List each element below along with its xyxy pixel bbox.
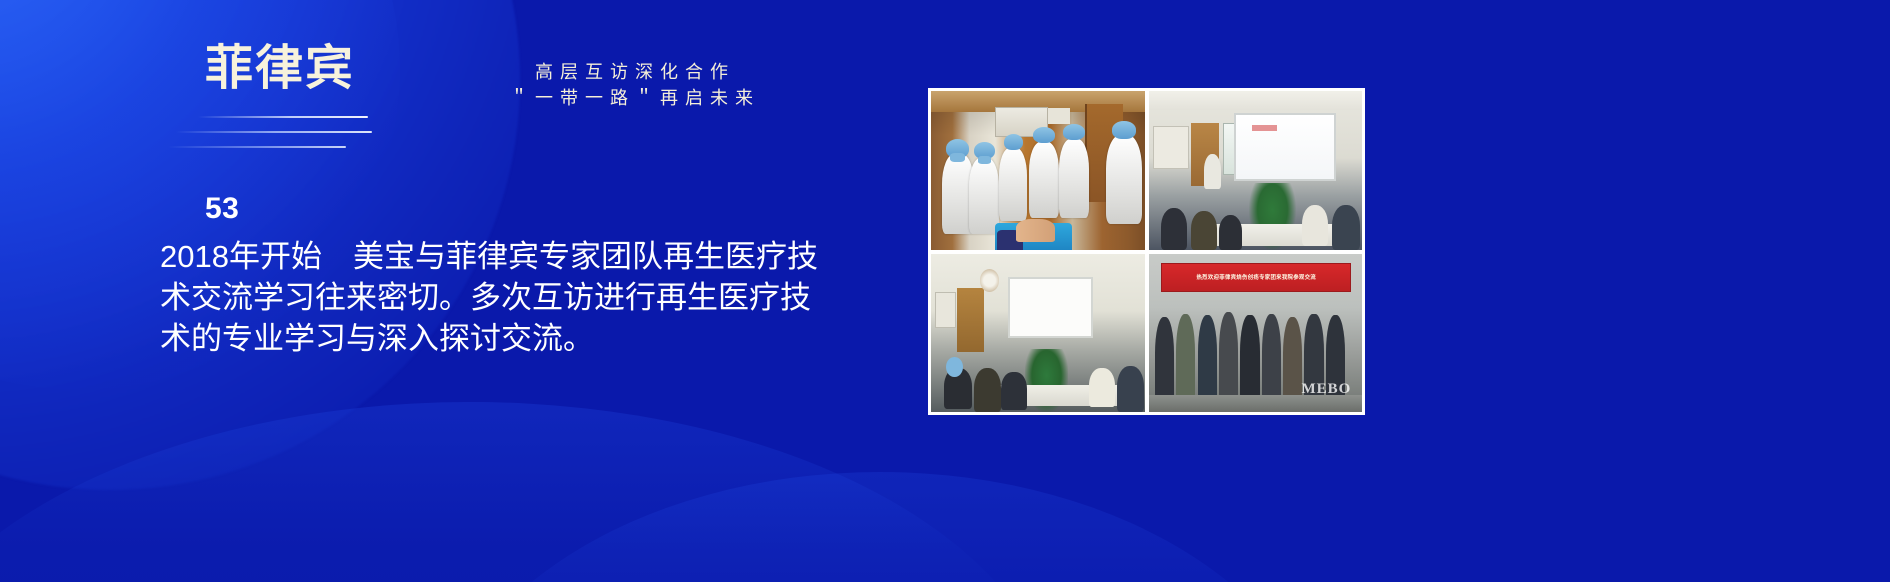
photo4-person-5 xyxy=(1240,315,1259,399)
photo3-door xyxy=(957,288,985,351)
photo2-attendee-2 xyxy=(1191,211,1217,249)
photo2-attendee-3 xyxy=(1219,215,1242,250)
photo1-mask-2 xyxy=(978,156,991,164)
photo3-projection-screen xyxy=(1008,277,1093,338)
photo2-projection-screen xyxy=(1234,113,1336,180)
photo1-cap-4 xyxy=(1033,127,1054,143)
photo4-person-3 xyxy=(1198,315,1217,399)
decorative-line-3 xyxy=(168,146,346,148)
photo1-figure-2 xyxy=(969,158,999,234)
photo1-wall-poster-small xyxy=(1048,108,1069,124)
paragraph-line-3: 术的专业学习与深入探讨交流。 xyxy=(160,318,840,359)
subtitle-line-2: ＂一带一路＂再启未来 xyxy=(455,86,815,112)
presentation-slide: 菲律宾 高层互访深化合作 ＂一带一路＂再启未来 53 2018年开始 美宝与菲律… xyxy=(0,0,1890,582)
decorative-line-2 xyxy=(176,131,372,133)
item-number: 53 xyxy=(205,192,239,226)
body-paragraph: 2018年开始 美宝与菲律宾专家团队再生医疗技 术交流学习往来密切。多次互访进行… xyxy=(160,236,840,360)
photo2-attendee-1 xyxy=(1161,208,1187,249)
photo4-person-2 xyxy=(1176,314,1195,400)
photo1-cap-5 xyxy=(1063,124,1084,140)
photo2-slide-logo xyxy=(1252,125,1278,131)
photo1-mask-1 xyxy=(950,153,965,163)
photo-grid: 热烈欢迎菲律宾烧伤创疡专家团来我院参观交流 MEBO xyxy=(928,88,1365,415)
subtitle-line-1: 高层互访深化合作 xyxy=(455,60,815,86)
photo-seminar-room xyxy=(931,254,1145,413)
photo4-person-4 xyxy=(1219,312,1238,399)
photo1-figure-6 xyxy=(1106,135,1142,224)
photo2-attendee-4 xyxy=(1302,205,1328,246)
page-title: 菲律宾 xyxy=(205,45,355,93)
photo-group-delegation: 热烈欢迎菲律宾烧伤创疡专家团来我院参观交流 MEBO xyxy=(1149,254,1363,413)
photo1-cap-3 xyxy=(1004,134,1023,150)
photo4-welcome-banner: 热烈欢迎菲律宾烧伤创疡专家团来我院参观交流 xyxy=(1161,263,1351,292)
slide-subtitle: 高层互访深化合作 ＂一带一路＂再启未来 xyxy=(455,60,815,111)
photo3-wall-notice xyxy=(935,292,956,329)
photo3-wall-clock xyxy=(980,269,999,291)
photo4-person-1 xyxy=(1155,317,1174,399)
photo1-patient-limbs xyxy=(1016,219,1054,241)
photo1-figure-4 xyxy=(1029,142,1059,218)
photo3-attendee-2 xyxy=(974,368,1002,412)
photo3-attendee-3 xyxy=(1001,372,1027,410)
photo1-cap-6 xyxy=(1112,121,1135,138)
paragraph-line-2: 术交流学习往来密切。多次互访进行再生医疗技 xyxy=(160,277,840,318)
decorative-line-1 xyxy=(198,116,368,118)
photo3-cap-1 xyxy=(946,357,963,378)
photo4-person-7 xyxy=(1283,317,1302,399)
paragraph-line-1: 2018年开始 美宝与菲律宾专家团队再生医疗技 xyxy=(160,236,840,277)
title-decorative-lines xyxy=(168,116,398,158)
photo-conference-projector xyxy=(1149,91,1363,250)
photo2-presenter xyxy=(1204,154,1221,189)
photo4-person-6 xyxy=(1262,314,1281,400)
photo4-watermark: MEBO xyxy=(1301,381,1351,398)
photo3-attendee-5 xyxy=(1117,366,1145,412)
photo1-figure-3 xyxy=(999,148,1027,221)
photo1-figure-5 xyxy=(1059,139,1089,218)
photo2-ceiling xyxy=(1149,91,1363,110)
photo4-banner-text: 热烈欢迎菲律宾烧伤创疡专家团来我院参观交流 xyxy=(1196,273,1316,281)
photo-surgical-demonstration xyxy=(931,91,1145,250)
photo3-attendee-4 xyxy=(1089,368,1115,408)
photo2-attendee-5 xyxy=(1332,205,1360,249)
photo2-wall-board xyxy=(1153,126,1189,169)
